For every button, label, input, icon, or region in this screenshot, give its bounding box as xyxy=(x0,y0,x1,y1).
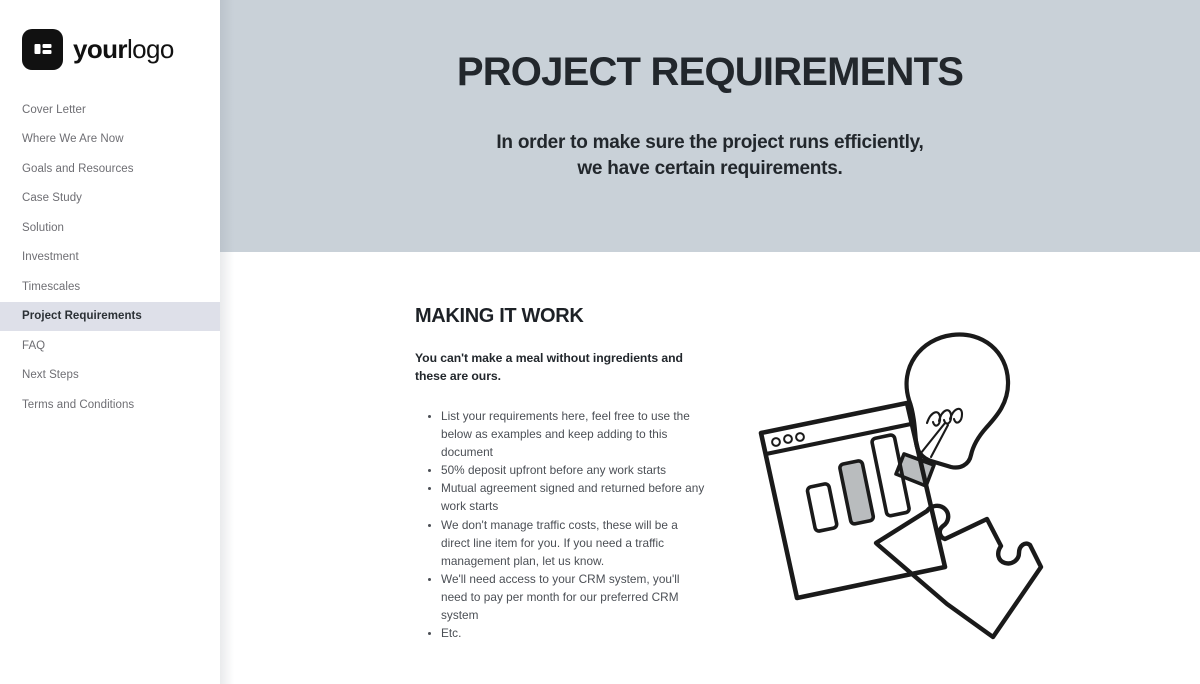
bar-chart-bars xyxy=(807,434,910,531)
body-section: MAKING IT WORK You can't make a meal wit… xyxy=(220,252,1200,650)
sidebar-item-where-we-are-now[interactable]: Where We Are Now xyxy=(0,125,220,155)
sidebar-item-label: Investment xyxy=(22,251,79,263)
text-column: MAKING IT WORK You can't make a meal wit… xyxy=(415,305,707,650)
sidebar-item-label: Cover Letter xyxy=(22,104,86,116)
sidebar-nav: Cover Letter Where We Are Now Goals and … xyxy=(0,95,220,420)
sidebar-item-case-study[interactable]: Case Study xyxy=(0,184,220,214)
window-dots xyxy=(772,433,804,446)
hero-subtitle-line-1: In order to make sure the project runs e… xyxy=(496,132,923,153)
section-title: MAKING IT WORK xyxy=(415,305,707,327)
main-content: PROJECT REQUIREMENTS In order to make su… xyxy=(220,0,1200,684)
list-item: Etc. xyxy=(441,624,707,642)
layout-logo-icon xyxy=(22,29,63,70)
hero-banner: PROJECT REQUIREMENTS In order to make su… xyxy=(220,0,1200,252)
section-lede: You can't make a meal without ingredient… xyxy=(415,349,707,386)
logo-text-light: logo xyxy=(127,34,174,64)
sidebar-item-label: Where We Are Now xyxy=(22,133,124,145)
sidebar-item-cover-letter[interactable]: Cover Letter xyxy=(0,95,220,125)
sidebar-item-label: FAQ xyxy=(22,340,45,352)
logo[interactable]: yourlogo xyxy=(0,0,220,74)
list-item: Mutual agreement signed and returned bef… xyxy=(441,479,707,515)
sidebar-item-goals-and-resources[interactable]: Goals and Resources xyxy=(0,154,220,184)
logo-text-bold: your xyxy=(73,34,127,64)
sidebar-item-terms-and-conditions[interactable]: Terms and Conditions xyxy=(0,390,220,420)
sidebar-item-label: Case Study xyxy=(22,192,82,204)
logo-text: yourlogo xyxy=(73,36,174,62)
requirements-list: List your requirements here, feel free t… xyxy=(415,407,707,643)
list-item: We don't manage traffic costs, these wil… xyxy=(441,516,707,570)
sidebar: yourlogo Cover Letter Where We Are Now G… xyxy=(0,0,220,684)
list-item: 50% deposit upfront before any work star… xyxy=(441,461,707,479)
illustration-column xyxy=(727,305,1200,650)
browser-window-bar-chart-icon xyxy=(761,403,945,598)
presentation-page: yourlogo Cover Letter Where We Are Now G… xyxy=(0,0,1200,684)
sidebar-item-investment[interactable]: Investment xyxy=(0,243,220,273)
puzzle-piece-icon xyxy=(876,506,1041,637)
sidebar-item-label: Next Steps xyxy=(22,369,79,381)
sidebar-item-label: Timescales xyxy=(22,281,80,293)
sidebar-item-timescales[interactable]: Timescales xyxy=(0,272,220,302)
sidebar-item-label: Solution xyxy=(22,222,64,234)
list-item: List your requirements here, feel free t… xyxy=(441,407,707,461)
sidebar-item-label: Goals and Resources xyxy=(22,163,134,175)
list-item: We'll need access to your CRM system, yo… xyxy=(441,570,707,624)
lightbulb-icon xyxy=(896,335,1008,486)
lightbulb-chart-puzzle-illustration xyxy=(749,305,1049,650)
hero-subtitle-line-2: we have certain requirements. xyxy=(577,158,842,179)
page-title: PROJECT REQUIREMENTS xyxy=(457,50,963,94)
hero-subtitle: In order to make sure the project runs e… xyxy=(496,130,923,182)
sidebar-item-label: Project Requirements xyxy=(22,310,142,322)
sidebar-item-label: Terms and Conditions xyxy=(22,399,134,411)
sidebar-item-project-requirements[interactable]: Project Requirements xyxy=(0,302,220,332)
sidebar-item-faq[interactable]: FAQ xyxy=(0,331,220,361)
sidebar-item-next-steps[interactable]: Next Steps xyxy=(0,361,220,391)
sidebar-item-solution[interactable]: Solution xyxy=(0,213,220,243)
